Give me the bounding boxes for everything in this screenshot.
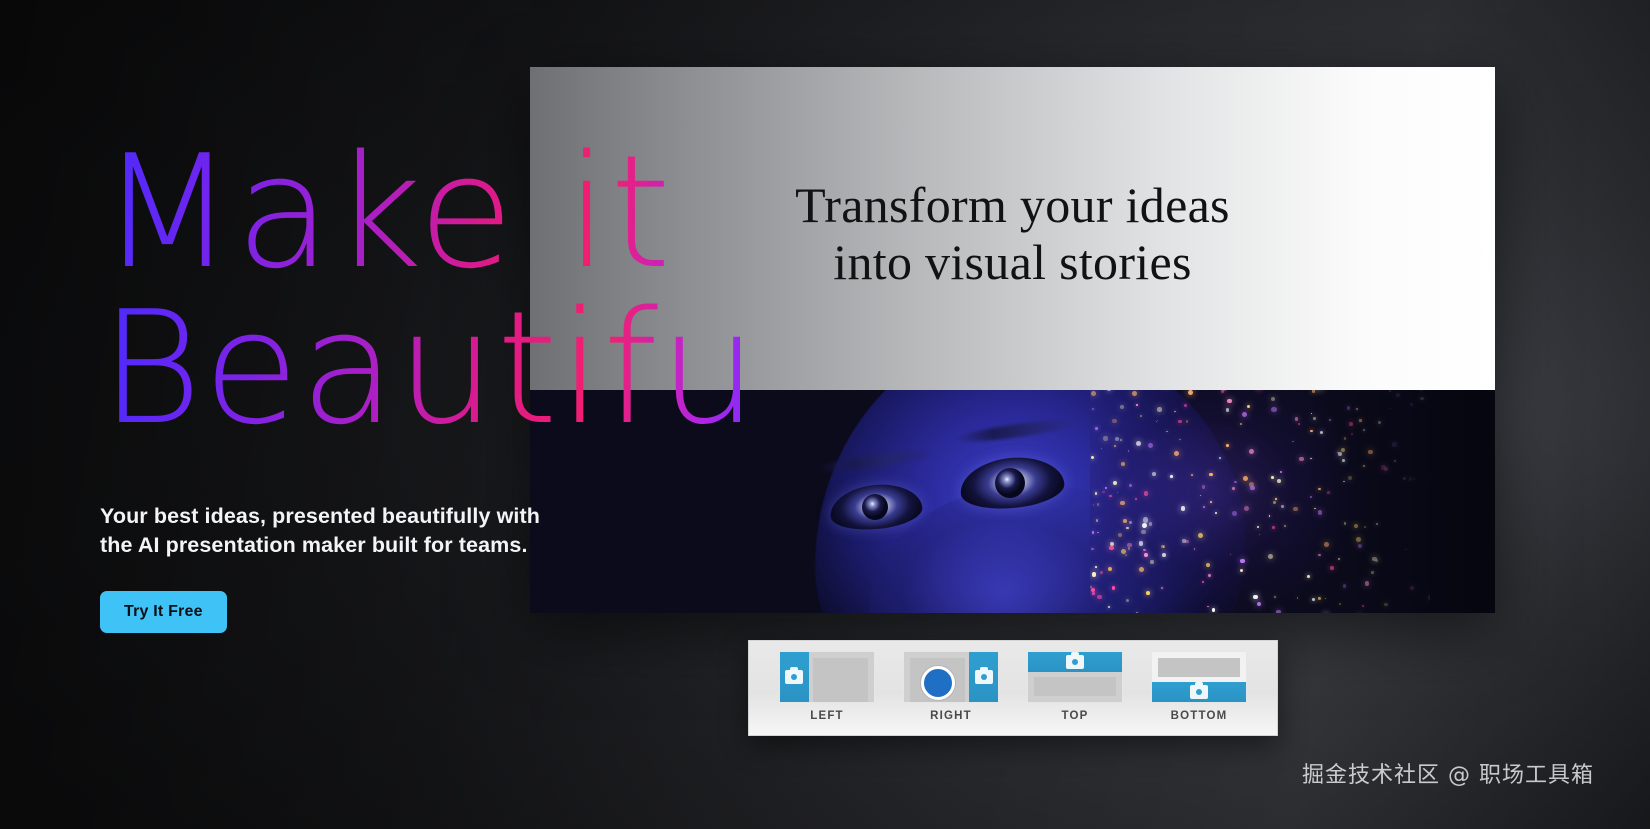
sparkle-particle — [1269, 515, 1270, 516]
sparkle-particle — [1240, 559, 1244, 563]
sparkle-particle — [1181, 506, 1185, 510]
portrait-pupil-right — [995, 468, 1025, 498]
layout-label-right: RIGHT — [930, 710, 972, 722]
hero-page: Transform your ideas into visual stories… — [0, 0, 1650, 829]
sparkle-particle — [1149, 522, 1153, 526]
sparkle-particle — [1095, 492, 1097, 494]
sparkle-particle — [1184, 404, 1187, 407]
sparkle-particle — [1274, 596, 1276, 598]
sparkle-particle — [1108, 606, 1110, 608]
sparkle-particle — [1232, 511, 1237, 516]
sparkle-particle — [1240, 569, 1243, 572]
layout-thumb-top[interactable] — [1027, 651, 1123, 703]
sparkle-particle — [1148, 443, 1153, 448]
sparkle-particle — [1157, 407, 1161, 411]
sparkle-particle — [1125, 554, 1127, 556]
sparkle-particle — [1253, 595, 1258, 600]
layout-thumb-bottom[interactable] — [1151, 651, 1247, 703]
sparkle-particle — [1271, 476, 1274, 479]
sparkle-particle — [1091, 456, 1094, 459]
sparkle-particle — [1281, 505, 1284, 508]
thumb-image-pane — [780, 652, 809, 702]
sparkle-particle — [1186, 420, 1189, 423]
layout-thumb-left[interactable] — [779, 651, 875, 703]
thumb-text-pane — [1158, 658, 1240, 677]
sparkle-particle — [1179, 439, 1180, 440]
sparkle-particle — [1162, 553, 1166, 557]
sparkle-particle — [1114, 445, 1116, 447]
sparkle-particle — [1140, 415, 1142, 417]
sparkle-particle — [1277, 479, 1282, 484]
sparkle-particle — [1185, 540, 1189, 544]
sparkle-particle — [1299, 457, 1304, 462]
sparkle-particle — [1271, 397, 1275, 401]
sparkle-particle — [1226, 444, 1229, 447]
sparkle-particle — [1095, 427, 1098, 430]
sparkle-particle — [1139, 541, 1143, 545]
sparkle-particle — [1117, 492, 1118, 493]
layout-label-top: TOP — [1061, 710, 1088, 722]
thumb-image-pane — [1028, 652, 1122, 672]
sparkle-particle — [1174, 411, 1176, 413]
sparkle-particle — [1112, 586, 1115, 589]
sparkle-particle — [1280, 471, 1282, 473]
sparkle-particle — [1100, 571, 1103, 574]
sparkle-particle — [1257, 602, 1261, 606]
sparkle-particle — [1247, 405, 1250, 408]
sparkle-particle — [1127, 543, 1132, 548]
sparkle-particle — [1178, 420, 1181, 423]
layout-option-bottom[interactable]: BOTTOM — [1137, 651, 1261, 722]
sparkle-particle — [1194, 548, 1196, 550]
sparkle-particle — [1113, 481, 1117, 485]
sparkle-particle — [1170, 475, 1173, 478]
sparkle-particle — [1249, 449, 1254, 454]
sparkle-particle — [1284, 525, 1286, 527]
sparkle-particle — [1203, 506, 1205, 508]
sparkle-particle — [1110, 542, 1114, 546]
sparkle-particle — [1161, 587, 1163, 589]
sparkle-particle — [1097, 503, 1099, 505]
sparkle-particle — [1271, 407, 1276, 412]
sparkle-particle — [1257, 526, 1259, 528]
sparkle-particle — [1132, 391, 1137, 396]
sparkle-particle — [1120, 439, 1122, 441]
layout-label-left: LEFT — [810, 710, 844, 722]
sparkle-particle — [1102, 491, 1105, 494]
sparkle-particle — [1174, 451, 1179, 456]
sparkle-particle — [1096, 519, 1099, 522]
layout-picker[interactable]: LEFT RIGHT TOP — [748, 640, 1278, 736]
sparkle-particle — [1182, 539, 1185, 542]
sparkle-particle — [1092, 531, 1094, 533]
sparkle-particle — [1232, 487, 1235, 490]
sparkle-particle — [1244, 506, 1249, 511]
sparkle-particle — [1221, 390, 1224, 393]
camera-icon — [1190, 685, 1208, 699]
selected-indicator-dot — [921, 666, 955, 700]
sparkle-particle — [1095, 566, 1097, 568]
sparkle-particle — [1139, 567, 1144, 572]
sparkle-particle — [1276, 610, 1280, 613]
sparkle-particle — [1275, 498, 1277, 500]
sparkle-particle — [1108, 567, 1113, 572]
sparkle-particle — [1101, 448, 1102, 449]
sparkle-particle — [1126, 527, 1128, 529]
sparkle-particle — [1136, 441, 1141, 446]
sparkle-particle — [1144, 553, 1148, 557]
thumb-text-pane — [1034, 677, 1116, 697]
thumb-image-pane — [969, 652, 998, 702]
layout-option-left[interactable]: LEFT — [765, 651, 889, 722]
sparkle-particle — [1092, 592, 1095, 595]
camera-icon — [1066, 655, 1084, 669]
sparkle-particle — [1121, 462, 1125, 466]
sparkle-particle — [1227, 399, 1232, 404]
sparkle-particle — [1141, 530, 1146, 535]
watermark: 掘金技术社区 @ 职场工具箱 — [1302, 757, 1594, 789]
sparkle-particle — [1250, 486, 1254, 490]
sparkle-particle — [1166, 431, 1167, 432]
layout-thumb-right[interactable] — [903, 651, 999, 703]
sparkle-particle — [1091, 391, 1096, 396]
sparkle-particle — [1120, 405, 1125, 410]
sparkle-particle — [1126, 599, 1129, 602]
sparkle-particle — [1259, 534, 1260, 535]
sparkle-particle — [1273, 501, 1276, 504]
sparkle-particle — [1157, 420, 1158, 421]
sparkle-particle — [1206, 563, 1210, 567]
sparkle-particle — [1143, 549, 1146, 552]
sparkle-particle — [1234, 481, 1236, 483]
sparkle-particle — [1097, 595, 1101, 599]
sparkle-particle — [1215, 512, 1217, 514]
portrait-pupil-left — [862, 494, 888, 520]
sparkle-particle — [1128, 547, 1130, 549]
sparkle-particle — [1146, 591, 1150, 595]
sparkle-particle — [1272, 526, 1275, 529]
sparkle-particle — [1092, 572, 1097, 577]
sparkle-particle — [1297, 597, 1298, 598]
sparkle-particle — [1200, 495, 1201, 496]
layout-label-bottom: BOTTOM — [1171, 710, 1228, 722]
sparkle-particle — [1209, 473, 1213, 477]
image-right-shadow — [1305, 390, 1495, 613]
sparkle-particle — [1230, 554, 1231, 555]
sparkle-particle — [1097, 532, 1098, 533]
sparkle-particle — [1109, 546, 1113, 550]
sparkle-particle — [1202, 485, 1206, 489]
headline-line-2: Beautiful — [100, 294, 740, 442]
sparkle-particle — [1212, 608, 1216, 612]
sparkle-particle — [1128, 450, 1130, 452]
camera-icon — [785, 670, 803, 684]
sparkle-particle — [1293, 507, 1298, 512]
sparkle-particle — [1242, 412, 1247, 417]
sparkle-particle — [1202, 581, 1204, 583]
sparkle-particle — [1152, 472, 1156, 476]
sparkle-particle — [1136, 404, 1138, 406]
sparkle-particle — [1144, 491, 1149, 496]
sparkle-particle — [1188, 390, 1193, 395]
sparkle-particle — [1191, 474, 1193, 476]
try-it-free-button[interactable]: Try It Free — [100, 591, 227, 633]
camera-icon — [975, 670, 993, 684]
sparkle-particle — [1295, 417, 1299, 421]
sparkle-particle — [1207, 606, 1208, 607]
sparkle-particle — [1208, 574, 1210, 576]
sparkle-particle — [1118, 533, 1122, 537]
sparkle-particle — [1142, 523, 1147, 528]
sparkle-particle — [1103, 436, 1108, 441]
sparkle-particle — [1219, 457, 1221, 459]
sparkle-particle — [1136, 612, 1139, 613]
sparkle-particle — [1129, 521, 1132, 524]
sparkle-particle — [1135, 498, 1137, 500]
sparkle-particle — [1129, 484, 1133, 488]
sparkle-particle — [1092, 408, 1094, 410]
sparkle-particle — [1123, 519, 1127, 523]
sparkle-particle — [1109, 495, 1112, 498]
sparkle-particle — [1115, 437, 1119, 441]
thumb-text-pane — [910, 658, 965, 703]
layout-option-right[interactable]: RIGHT — [889, 651, 1013, 722]
sparkle-particle — [1156, 421, 1158, 423]
sparkle-particle — [1268, 554, 1273, 559]
thumb-text-pane — [813, 658, 868, 703]
sparkle-particle — [1105, 487, 1107, 489]
sparkle-particle — [1150, 560, 1153, 563]
hero-copy: Make it Beautiful Your best ideas, prese… — [100, 138, 740, 633]
sparkle-particle — [1210, 501, 1212, 503]
sparkle-particle — [1091, 548, 1093, 550]
sparkle-particle — [1226, 408, 1230, 412]
sparkle-particle — [1240, 423, 1242, 425]
sparkle-particle — [1292, 441, 1293, 442]
sparkle-particle — [1120, 501, 1125, 506]
sparkle-particle — [1198, 533, 1203, 538]
sparkle-particle — [1112, 419, 1117, 424]
thumb-image-pane — [1152, 682, 1246, 702]
sparkle-particle — [1093, 504, 1095, 506]
sparkle-particle — [1107, 390, 1111, 391]
sparkle-particle — [1243, 476, 1248, 481]
sparkle-particle — [1298, 423, 1300, 425]
hero-subtext: Your best ideas, presented beautifully w… — [100, 502, 740, 559]
layout-option-top[interactable]: TOP — [1013, 651, 1137, 722]
sparkle-particle — [1143, 517, 1148, 522]
headline-line-1: Make it — [100, 138, 740, 286]
